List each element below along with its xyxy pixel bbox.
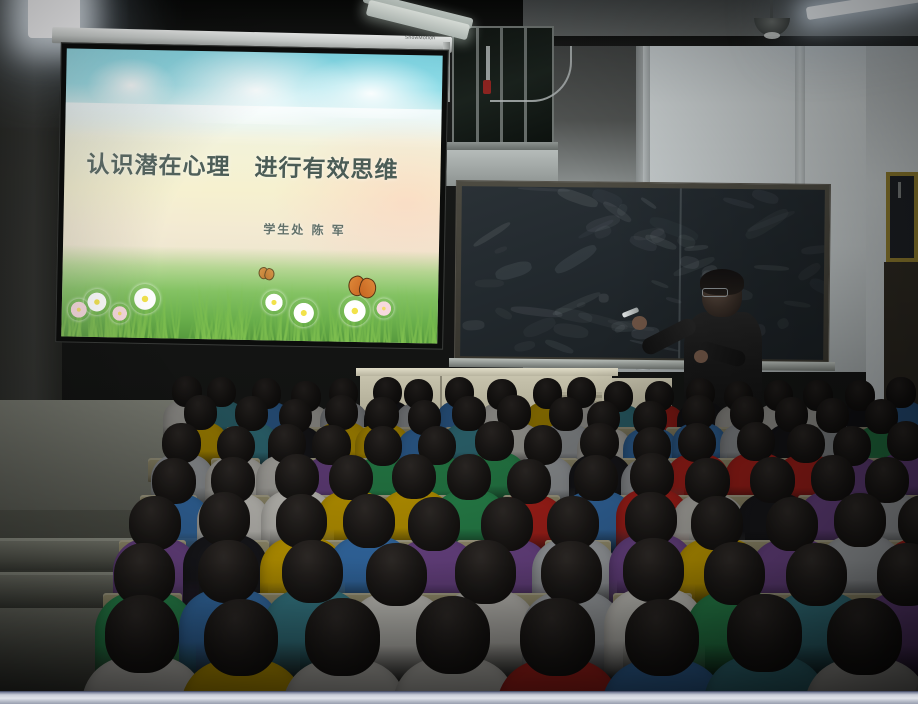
chalk-smudge [599, 294, 609, 303]
notice-board[interactable] [886, 172, 918, 262]
butterfly-icon-small [258, 267, 272, 278]
chalk-smudge [544, 338, 575, 356]
audience-head [282, 540, 343, 603]
audience-head [520, 598, 594, 676]
audience-head [198, 540, 259, 603]
audience-head [447, 454, 491, 500]
audience-head [541, 541, 602, 604]
presenter-hand [632, 316, 647, 330]
pendant-lamp-rod [770, 0, 773, 20]
chalk-smudge [801, 245, 825, 256]
grass-blade [248, 323, 250, 340]
chalk-smudge [651, 280, 670, 290]
chalk-smudge [514, 339, 537, 353]
chalk-smudge [552, 242, 598, 276]
audience-head [623, 538, 684, 601]
chalk-smudge [494, 246, 508, 255]
chalk-smudge [807, 276, 825, 298]
audience-head [737, 422, 775, 462]
audience-head [199, 492, 251, 546]
slide-subtitle: 学生处 陈 军 [263, 220, 346, 239]
chalk-smudge [751, 187, 780, 205]
glasses-icon [702, 288, 728, 297]
chalk-smudge [475, 280, 504, 288]
audience-head [827, 598, 901, 676]
audience-head [625, 599, 699, 677]
audience-head [416, 596, 490, 674]
audience-head [105, 595, 179, 673]
cloud-shape [86, 57, 177, 105]
chalk-smudge [576, 301, 587, 309]
chalk-smudge [754, 264, 790, 271]
bottom-chrome-bar [0, 691, 918, 704]
audience-head [877, 543, 918, 606]
screen-brand-label: ShowMotion [398, 34, 442, 42]
chalk-smudge [472, 220, 512, 248]
presenter-hand-lower [694, 350, 708, 363]
blackboard[interactable] [454, 180, 831, 366]
chalk-smudge [743, 205, 792, 243]
cable-connector [483, 80, 491, 94]
slide-title: 认识潜在心理 进行有效思维 [86, 145, 431, 186]
chalk-smudge [553, 321, 590, 340]
chalk-smudge [776, 317, 790, 331]
projection-screen[interactable]: 认识潜在心理 进行有效思维 学生处 陈 军 [55, 42, 449, 349]
audience-head [392, 454, 436, 500]
lecture-hall-screenshot: ShowMotion [0, 0, 918, 704]
chalk-smudge [462, 320, 485, 331]
chalk-smudge [783, 299, 810, 308]
audience-member [827, 598, 918, 704]
audience-head [834, 493, 886, 547]
audience-head [455, 540, 516, 603]
podium-top-surface [356, 368, 618, 376]
notice-board-mark [898, 182, 901, 198]
chalk-smudge [641, 196, 658, 209]
audience-head [887, 421, 918, 461]
audience-head [727, 594, 801, 672]
audience-head [574, 455, 618, 501]
chalk-smudge [723, 196, 755, 210]
projected-slide: 认识潜在心理 进行有效思维 学生处 陈 军 [61, 48, 442, 343]
grass-blade [328, 324, 330, 342]
audience-head [305, 598, 379, 676]
grass-blade [367, 316, 369, 342]
audience-head [204, 599, 278, 677]
pendant-lamp-bulb [764, 32, 780, 39]
butterfly-icon [348, 276, 378, 299]
grass-band [61, 244, 439, 343]
